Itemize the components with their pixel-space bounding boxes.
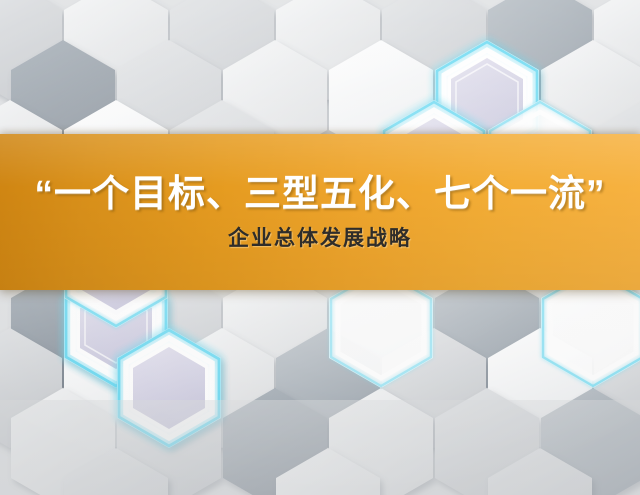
sub-title: 企业总体发展战略 xyxy=(228,226,412,251)
title-banner: “一个目标、三型五化、七个一流” 企业总体发展战略 xyxy=(0,134,640,290)
main-title: “一个目标、三型五化、七个一流” xyxy=(35,173,606,214)
slide-canvas: “一个目标、三型五化、七个一流” 企业总体发展战略 xyxy=(0,0,640,495)
